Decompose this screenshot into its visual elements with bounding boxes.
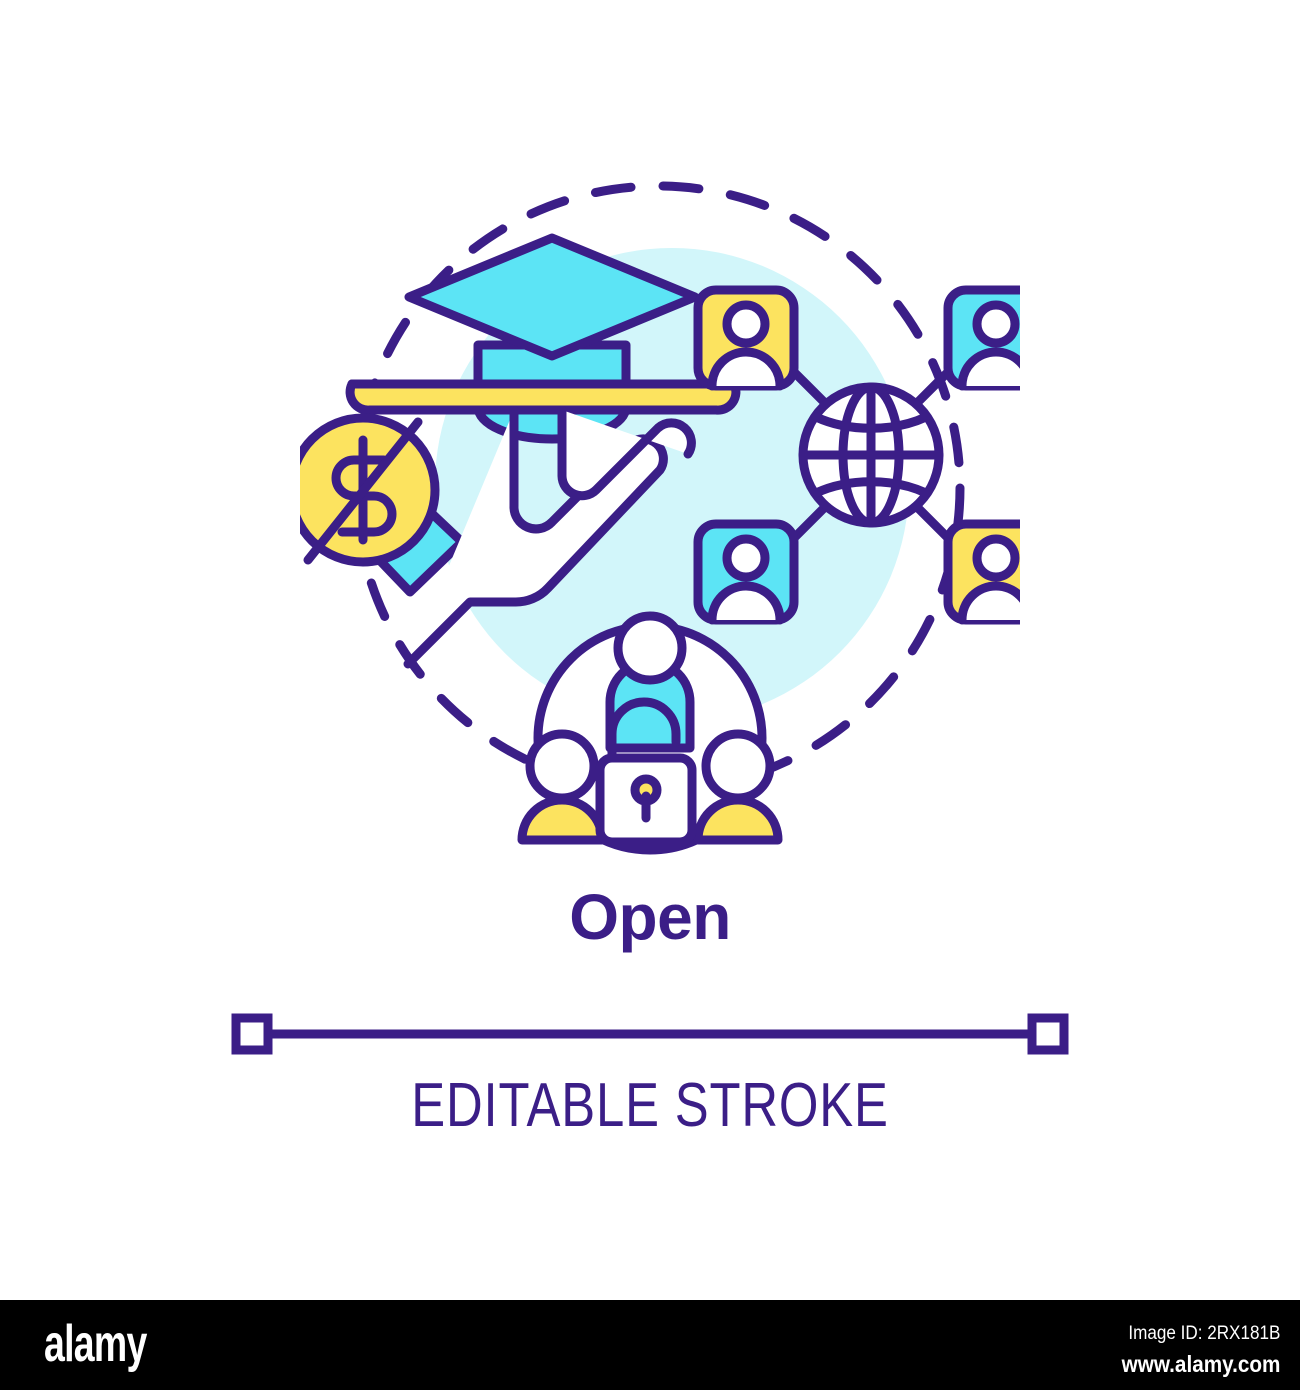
page-title: Open xyxy=(0,885,1300,949)
avatar-body xyxy=(712,586,780,620)
avatar-body xyxy=(962,352,1020,386)
alamy-logo: alamy xyxy=(44,1318,147,1370)
avatar-head xyxy=(727,539,765,577)
alamy-site-label: www.alamy.com xyxy=(1121,1350,1280,1379)
image-id-label: Image ID: 2RX181B xyxy=(1121,1322,1280,1346)
stroke-indicator-endpoint-left xyxy=(236,1018,268,1050)
person-bottom-left xyxy=(522,734,602,840)
avatar-body xyxy=(712,352,780,386)
avatar-head xyxy=(977,539,1015,577)
avatar-body xyxy=(962,586,1020,620)
avatar-head xyxy=(727,305,765,343)
stroke-indicator-endpoint-right xyxy=(1032,1018,1064,1050)
editable-stroke-indicator xyxy=(230,1012,1070,1056)
watermark-meta: Image ID: 2RX181B www.alamy.com xyxy=(1104,1322,1280,1379)
serving-tray-icon xyxy=(350,384,736,410)
concept-illustration xyxy=(300,140,1020,860)
no-cost-dollar-coin-icon xyxy=(300,418,435,562)
stock-image-canvas: Open EDITABLE STROKE xyxy=(0,0,1300,1300)
person-head xyxy=(706,734,770,798)
avatar-card-top-right xyxy=(948,290,1020,386)
editable-stroke-caption: EDITABLE STROKE xyxy=(117,1073,1183,1138)
person-bottom-right xyxy=(698,734,778,840)
avatar-card-bottom-left xyxy=(698,524,794,620)
avatar-head xyxy=(977,305,1015,343)
person-body xyxy=(698,800,778,840)
avatar-card-top-left xyxy=(698,290,794,386)
globe-icon xyxy=(803,387,939,523)
avatar-card-bottom-right xyxy=(948,524,1020,620)
person-body xyxy=(522,800,602,840)
person-head xyxy=(618,616,682,680)
person-head xyxy=(530,734,594,798)
